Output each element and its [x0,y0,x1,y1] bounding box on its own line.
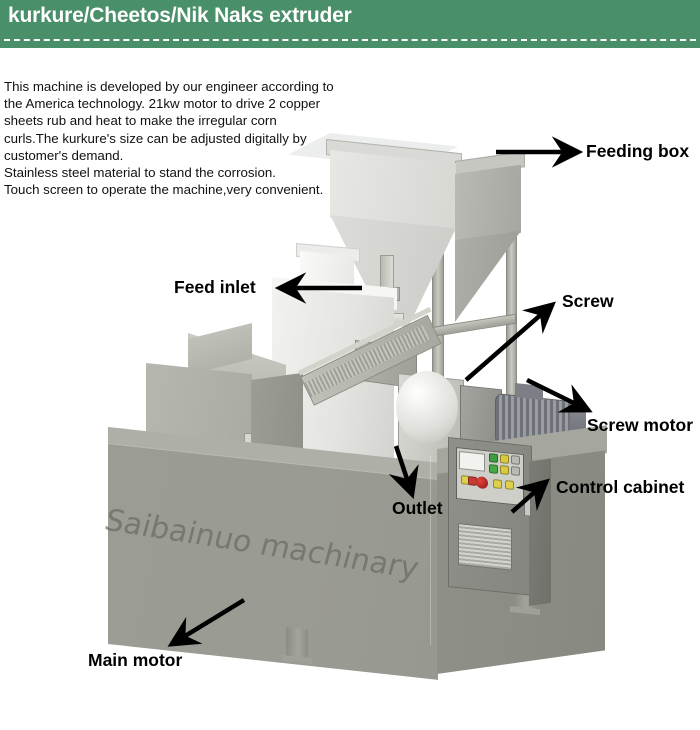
feeding-box-side [455,165,521,242]
control-button-yellow-2 [500,465,509,475]
control-button-gray-2 [511,466,520,476]
control-button-yellow-4 [493,479,502,489]
callout-screw: Screw [562,291,614,312]
frame-beam-mid [432,314,516,337]
control-button-yellow-1 [500,454,509,464]
cabinet-door-handle [524,496,531,517]
screw-motor-terminal-box [515,383,543,400]
callout-control-cabinet: Control cabinet [556,477,684,498]
callout-outlet: Outlet [392,498,443,519]
banner-dashed-divider [4,39,696,41]
screw-drum [396,371,458,443]
control-button-green-2 [489,464,498,474]
control-button-gray-1 [511,455,520,465]
base-seam-line [430,455,431,645]
callout-feeding-box: Feeding box [586,141,689,162]
page-title: kurkure/Cheetos/Nik Naks extruder [8,4,352,28]
control-cabinet-side [529,459,551,606]
emergency-stop-button [476,476,488,489]
callout-screw-motor: Screw motor [587,415,693,436]
product-description-image: kurkure/Cheetos/Nik Naks extruder This m… [0,0,700,730]
callout-feed-inlet: Feed inlet [174,277,256,298]
header-banner: kurkure/Cheetos/Nik Naks extruder [0,0,700,48]
control-button-yellow-5 [505,480,514,490]
touch-screen-hmi [459,451,485,472]
cabinet-ventilation-grille [458,523,512,571]
control-button-green-1 [489,453,498,463]
callout-main-motor: Main motor [88,650,182,671]
